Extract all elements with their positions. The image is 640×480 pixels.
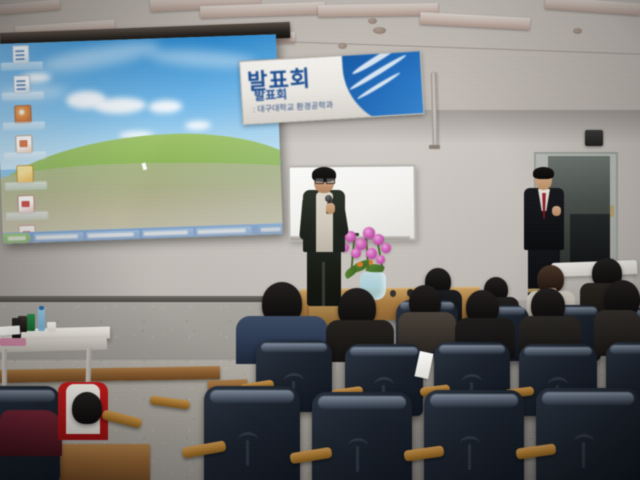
seat-highlight bbox=[350, 347, 419, 356]
icon-label bbox=[5, 181, 47, 190]
door-handle[interactable] bbox=[610, 205, 614, 217]
browser-icon bbox=[14, 105, 32, 124]
orchid-bloom bbox=[381, 243, 391, 253]
auditorium-seat[interactable] bbox=[312, 392, 412, 480]
list-item[interactable] bbox=[2, 104, 47, 132]
glasses-icon bbox=[315, 178, 333, 182]
seat-highlight bbox=[210, 390, 294, 403]
auditorium-photo: 발표회 발표회 : 대구대학교 환경공학과 bbox=[0, 0, 640, 480]
orchid-bloom bbox=[351, 248, 361, 258]
seat-highlight bbox=[261, 343, 328, 352]
seat-emblem bbox=[237, 432, 267, 478]
auditorium-seat[interactable] bbox=[424, 390, 524, 480]
seat-highlight bbox=[542, 392, 634, 405]
seat-highlight bbox=[439, 345, 506, 354]
icon-label bbox=[2, 91, 44, 100]
pink-item bbox=[0, 338, 26, 346]
seated-person-shoulder bbox=[0, 410, 62, 456]
seat-highlight bbox=[430, 394, 518, 407]
document-icon bbox=[13, 75, 31, 94]
list-item[interactable] bbox=[4, 164, 49, 192]
paper-cup bbox=[47, 322, 56, 332]
seat-highlight bbox=[318, 396, 406, 409]
seat-highlight bbox=[610, 345, 640, 354]
audience-head bbox=[72, 392, 102, 424]
soda-can bbox=[27, 314, 35, 331]
presenter-hand bbox=[326, 203, 335, 214]
list-item[interactable] bbox=[1, 74, 46, 102]
table-leg bbox=[2, 349, 7, 389]
icon-label bbox=[4, 151, 46, 160]
pole-bracket bbox=[429, 145, 440, 149]
seat-emblem bbox=[459, 436, 489, 480]
presentation-icon bbox=[15, 135, 33, 154]
list-item[interactable] bbox=[3, 134, 48, 162]
orchid-accent bbox=[357, 262, 363, 267]
screen-glare-bottom bbox=[1, 182, 283, 244]
orchid-bloom bbox=[376, 255, 385, 264]
swoosh-stroke bbox=[356, 71, 401, 100]
banner-swoosh-graphic bbox=[341, 50, 424, 125]
host-hand bbox=[552, 206, 561, 216]
microphone-head bbox=[325, 195, 332, 202]
document-icon bbox=[12, 45, 30, 64]
seat-emblem bbox=[573, 434, 603, 480]
event-banner: 발표회 발표회 : 대구대학교 환경공학과 bbox=[239, 50, 424, 125]
auditorium-seat[interactable] bbox=[536, 388, 640, 480]
paper-sheet bbox=[0, 325, 20, 335]
bottle-cap bbox=[39, 306, 44, 310]
object-on-table bbox=[390, 290, 396, 297]
icon-label bbox=[1, 61, 43, 70]
list-item[interactable] bbox=[0, 44, 45, 72]
auditorium-seat[interactable] bbox=[204, 386, 300, 480]
seat-highlight bbox=[524, 347, 593, 356]
presenter-leg-gap bbox=[322, 262, 325, 306]
seat-emblem bbox=[347, 438, 377, 480]
folder-icon bbox=[16, 165, 34, 184]
seat-highlight bbox=[0, 390, 55, 402]
host-hair bbox=[533, 167, 554, 179]
icon-label bbox=[3, 121, 45, 130]
banner-subheadline: 발표회 bbox=[254, 85, 288, 104]
wall-speaker bbox=[585, 130, 603, 146]
water-bottle bbox=[38, 308, 45, 331]
